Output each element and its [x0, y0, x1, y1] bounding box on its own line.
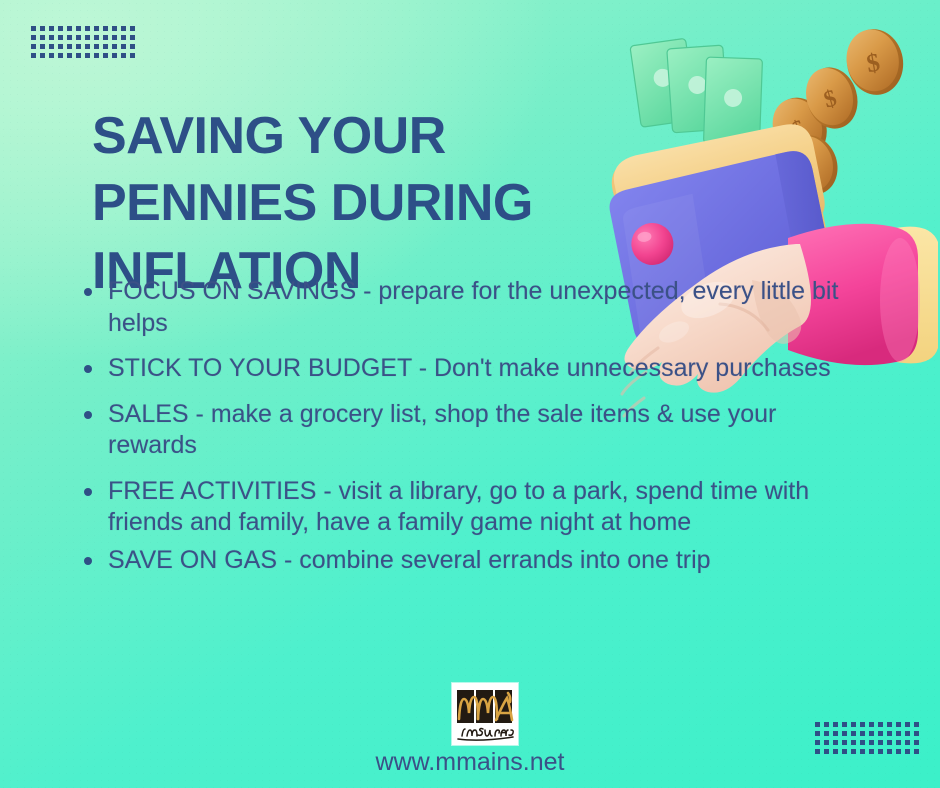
- title-line-2: PENNIES DURING: [92, 170, 652, 238]
- decorative-dot: [49, 35, 54, 40]
- decorative-dot: [860, 731, 865, 736]
- decorative-dot: [121, 44, 126, 49]
- decorative-dot: [905, 722, 910, 727]
- decorative-dot: [869, 731, 874, 736]
- decorative-dot: [824, 731, 829, 736]
- decorative-dot: [85, 44, 90, 49]
- decorative-dot: [40, 44, 45, 49]
- list-item: SALES - make a grocery list, shop the sa…: [78, 399, 868, 462]
- decorative-dot: [896, 722, 901, 727]
- decorative-dot: [94, 53, 99, 58]
- decorative-dot: [851, 731, 856, 736]
- decorative-dot: [130, 35, 135, 40]
- decorative-dot: [121, 26, 126, 31]
- mma-insurance-logo: [452, 683, 518, 745]
- decorative-dot: [815, 722, 820, 727]
- decorative-dot: [49, 44, 54, 49]
- list-item: SAVE ON GAS - combine several errands in…: [78, 545, 868, 577]
- decorative-dot: [905, 740, 910, 745]
- decorative-dot: [112, 44, 117, 49]
- decorative-dot: [40, 35, 45, 40]
- list-item: STICK TO YOUR BUDGET - Don't make unnece…: [78, 353, 868, 385]
- decorative-dot: [833, 722, 838, 727]
- decorative-dot: [67, 44, 72, 49]
- decorative-dot: [112, 35, 117, 40]
- decorative-dot: [914, 731, 919, 736]
- decorative-dot: [121, 53, 126, 58]
- decorative-dot: [130, 44, 135, 49]
- decorative-dot: [94, 26, 99, 31]
- decorative-dot: [860, 722, 865, 727]
- decorative-dot: [878, 722, 883, 727]
- decorative-dot: [851, 740, 856, 745]
- list-item: FOCUS ON SAVINGS - prepare for the unexp…: [78, 276, 868, 339]
- decorative-dot: [905, 731, 910, 736]
- decorative-dot: [833, 731, 838, 736]
- decorative-dot: [40, 26, 45, 31]
- infographic-poster: $ $ $ $: [0, 0, 940, 788]
- decorative-dot: [58, 44, 63, 49]
- decorative-dot: [896, 731, 901, 736]
- decorative-dot: [824, 740, 829, 745]
- decorative-dot: [842, 722, 847, 727]
- decorative-dot: [94, 35, 99, 40]
- decorative-dot-grid-top-left: [31, 26, 139, 62]
- decorative-dot: [85, 26, 90, 31]
- decorative-dot: [67, 26, 72, 31]
- decorative-dot: [121, 35, 126, 40]
- savings-tips-list: FOCUS ON SAVINGS - prepare for the unexp…: [78, 276, 868, 582]
- decorative-dot: [94, 44, 99, 49]
- decorative-dot: [112, 53, 117, 58]
- decorative-dot: [31, 44, 36, 49]
- decorative-dot: [31, 53, 36, 58]
- decorative-dot: [869, 740, 874, 745]
- decorative-dot: [76, 44, 81, 49]
- decorative-dot: [49, 53, 54, 58]
- decorative-dot: [76, 53, 81, 58]
- decorative-dot: [842, 740, 847, 745]
- decorative-dot: [887, 731, 892, 736]
- list-item: FREE ACTIVITIES - visit a library, go to…: [78, 476, 868, 539]
- decorative-dot: [76, 26, 81, 31]
- decorative-dot: [58, 53, 63, 58]
- decorative-dot: [40, 53, 45, 58]
- decorative-dot: [887, 722, 892, 727]
- decorative-dot: [31, 26, 36, 31]
- decorative-dot: [878, 740, 883, 745]
- decorative-dot: [103, 26, 108, 31]
- decorative-dot: [67, 35, 72, 40]
- decorative-dot: [860, 740, 865, 745]
- decorative-dot: [824, 722, 829, 727]
- decorative-dot: [130, 26, 135, 31]
- decorative-dot: [58, 35, 63, 40]
- decorative-dot: [112, 26, 117, 31]
- decorative-dot: [815, 740, 820, 745]
- decorative-dot: [103, 53, 108, 58]
- decorative-dot: [914, 740, 919, 745]
- decorative-dot: [896, 740, 901, 745]
- decorative-dot: [103, 44, 108, 49]
- decorative-dot: [869, 722, 874, 727]
- decorative-dot: [103, 35, 108, 40]
- decorative-dot: [85, 35, 90, 40]
- decorative-dot: [58, 26, 63, 31]
- decorative-dot: [851, 722, 856, 727]
- decorative-dot: [878, 731, 883, 736]
- decorative-dot: [815, 731, 820, 736]
- decorative-dot: [887, 740, 892, 745]
- decorative-dot: [31, 35, 36, 40]
- decorative-dot: [914, 722, 919, 727]
- decorative-dot: [842, 731, 847, 736]
- decorative-dot: [49, 26, 54, 31]
- decorative-dot: [833, 740, 838, 745]
- website-url[interactable]: www.mmains.net: [0, 748, 940, 777]
- title-line-1: SAVING YOUR: [92, 103, 652, 171]
- decorative-dot: [85, 53, 90, 58]
- decorative-dot: [67, 53, 72, 58]
- decorative-dot: [130, 53, 135, 58]
- decorative-dot: [76, 35, 81, 40]
